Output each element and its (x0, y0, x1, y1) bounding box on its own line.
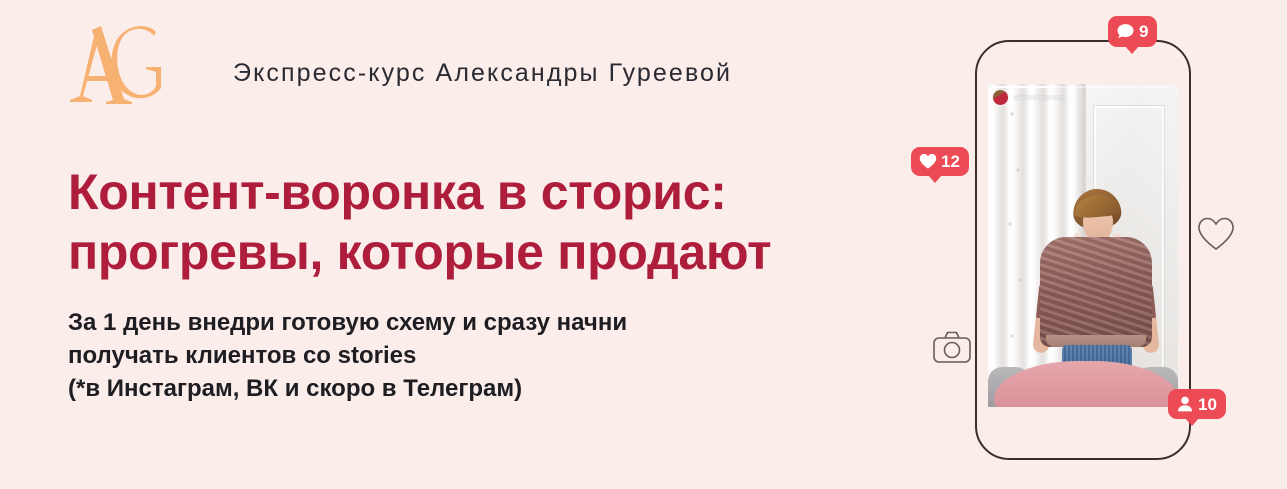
story-avatar-icon[interactable] (992, 89, 1009, 106)
comment-bubble-icon (1116, 22, 1135, 41)
comments-count: 9 (1139, 23, 1148, 40)
page-title-line-1: Контент-воронка в сторис: (68, 162, 948, 222)
heart-outline-icon (1197, 216, 1235, 252)
story-header[interactable]: aleksandragureeva (992, 89, 1065, 106)
page-title: Контент-воронка в сторис: прогревы, кото… (68, 162, 948, 282)
likes-badge[interactable]: 12 (911, 147, 969, 176)
phone-screen[interactable]: aleksandragureeva (988, 84, 1178, 407)
ag-monogram-icon (66, 22, 162, 108)
page-subtitle-line-1: За 1 день внедри готовую схему и сразу н… (68, 306, 828, 339)
person-filled-icon (1176, 395, 1194, 413)
followers-badge[interactable]: 10 (1168, 389, 1226, 419)
page-subtitle: За 1 день внедри готовую схему и сразу н… (68, 306, 828, 405)
hero-banner: Экспресс-курс Александры Гуреевой Контен… (0, 0, 1287, 489)
brand-logo[interactable] (66, 22, 162, 108)
phone-mockup: aleksandragureeva (975, 40, 1191, 460)
comments-badge[interactable]: 9 (1108, 16, 1157, 47)
likes-count: 12 (941, 153, 960, 170)
followers-count: 10 (1198, 396, 1217, 413)
page-subtitle-line-3: (*в Инстаграм, ВК и скоро в Телеграм) (68, 372, 828, 405)
page-title-line-2: прогревы, которые продают (68, 222, 948, 282)
camera-outline-icon (932, 330, 972, 364)
heart-filled-icon (919, 153, 937, 170)
story-progress-bar (992, 86, 1174, 88)
page-subtitle-line-2: получать клиентов со stories (68, 339, 828, 372)
story-username: aleksandragureeva (1014, 95, 1065, 101)
course-eyebrow: Экспресс-курс Александры Гуреевой (233, 56, 732, 90)
story-photo (988, 84, 1178, 407)
